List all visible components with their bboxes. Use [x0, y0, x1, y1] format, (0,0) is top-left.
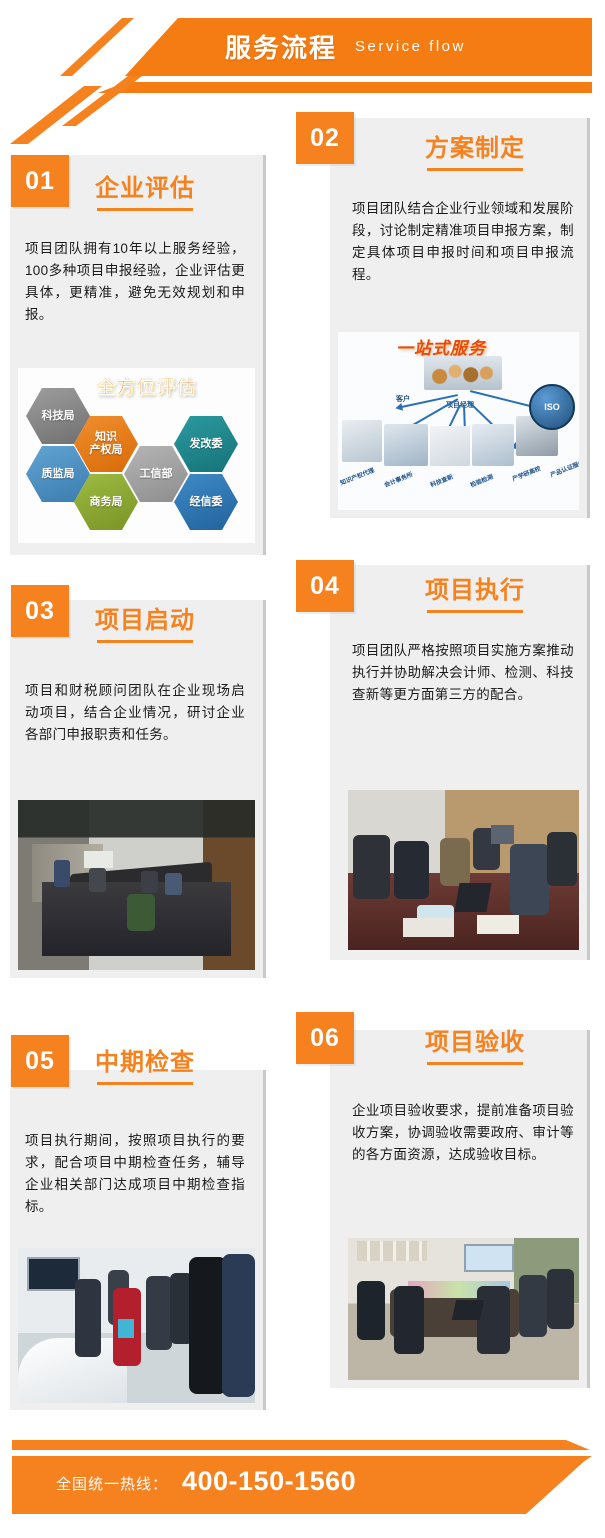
one-stop-node-photo-2	[384, 424, 428, 466]
page-subtitle: Service flow	[355, 38, 466, 55]
one-stop-node-label-1: 知识产权代理	[339, 465, 376, 487]
one-stop-node-photo-4	[472, 424, 514, 466]
one-stop-node-label-6: 产品认证服务	[549, 457, 579, 479]
card-04-number-badge: 04	[296, 560, 354, 612]
card-04-photo-working-session	[348, 790, 579, 950]
header-diagonal-accent-top	[60, 18, 134, 76]
card-02-number-badge: 02	[296, 112, 354, 164]
card-05-photo-showroom-tour	[18, 1248, 255, 1403]
card-02-title: 方案制定	[425, 128, 525, 163]
footer-banner: 全国统一热线： 400-150-1560	[0, 1440, 605, 1538]
one-stop-node-label-5: 产学研高校	[511, 463, 542, 483]
one-stop-center-photo	[424, 356, 502, 390]
hexagon-node-gongxin: 工信部	[124, 446, 188, 502]
one-stop-iso-badge: ISO	[529, 384, 575, 430]
card-05-title: 中期检查	[95, 1042, 195, 1077]
one-stop-node-label-3: 科技查新	[429, 472, 455, 489]
card-06-body: 企业项目验收要求，提前准备项目验收方案，协调验收需要政府、审计等的各方面资源，达…	[352, 1100, 574, 1166]
card-01-figure-hexagon-chart: 全方位评估 科技局 知识 产权局 质监局 商务局 工信部 发改委 经信委	[18, 368, 255, 543]
footer-hotline-number[interactable]: 400-150-1560	[182, 1466, 356, 1497]
card-02-body: 项目团队结合企业行业领域和发展阶段，讨论制定精准项目申报方案，制定具体项目申报时…	[352, 198, 574, 285]
service-flow-infographic: 服务流程 Service flow 01 企业评估 项目团队拥有10年以上服务经…	[0, 0, 605, 1538]
header-orange-stripe	[98, 82, 592, 93]
one-stop-node-label-4: 检验检测	[469, 472, 495, 489]
card-03-number-badge: 03	[11, 585, 69, 637]
hexagon-node-jingxin: 经信委	[174, 474, 238, 530]
card-05-number-badge: 05	[11, 1035, 69, 1087]
card-01-body: 项目团队拥有10年以上服务经验，100多种项目申报经验，企业评估更具体，更精准，…	[25, 238, 245, 325]
card-06-photo-conference-table	[348, 1238, 579, 1380]
card-04-body: 项目团队严格按照项目实施方案推动执行并协助解决会计师、检测、科技查新等更方面第三…	[352, 640, 574, 706]
card-03-body: 项目和财税顾问团队在企业现场启动项目，结合企业情况，研讨企业各部门申报职责和任务…	[25, 680, 245, 746]
card-03-photo-meeting-room	[18, 800, 255, 970]
one-stop-node-label-2: 会计事务所	[383, 469, 414, 489]
footer-orange-stripe	[12, 1440, 590, 1450]
card-06-number-badge: 06	[296, 1012, 354, 1064]
card-02-figure-one-stop-service: 一站式服务 客户 项目经理 ISO 知识产权代理 会计事务所 科技查新 检验检测…	[338, 332, 579, 510]
page-title: 服务流程	[225, 28, 337, 65]
card-03-title: 项目启动	[95, 600, 195, 635]
card-04-title: 项目执行	[425, 570, 525, 605]
one-stop-node-photo-1	[342, 420, 382, 462]
card-06-title: 项目验收	[425, 1022, 525, 1057]
footer-hotline-label: 全国统一热线：	[56, 1473, 168, 1494]
hexagon-node-fagai: 发改委	[174, 416, 238, 472]
hexagon-chart-title: 全方位评估	[96, 372, 196, 399]
header-banner: 服务流程 Service flow	[0, 0, 605, 120]
card-01-title: 企业评估	[95, 168, 195, 203]
card-05-body: 项目执行期间，按照项目执行的要求，配合项目中期检查任务，辅导企业相关部门达成项目…	[25, 1130, 245, 1217]
one-stop-node-photo-3	[430, 426, 470, 466]
card-01-number-badge: 01	[11, 155, 69, 207]
